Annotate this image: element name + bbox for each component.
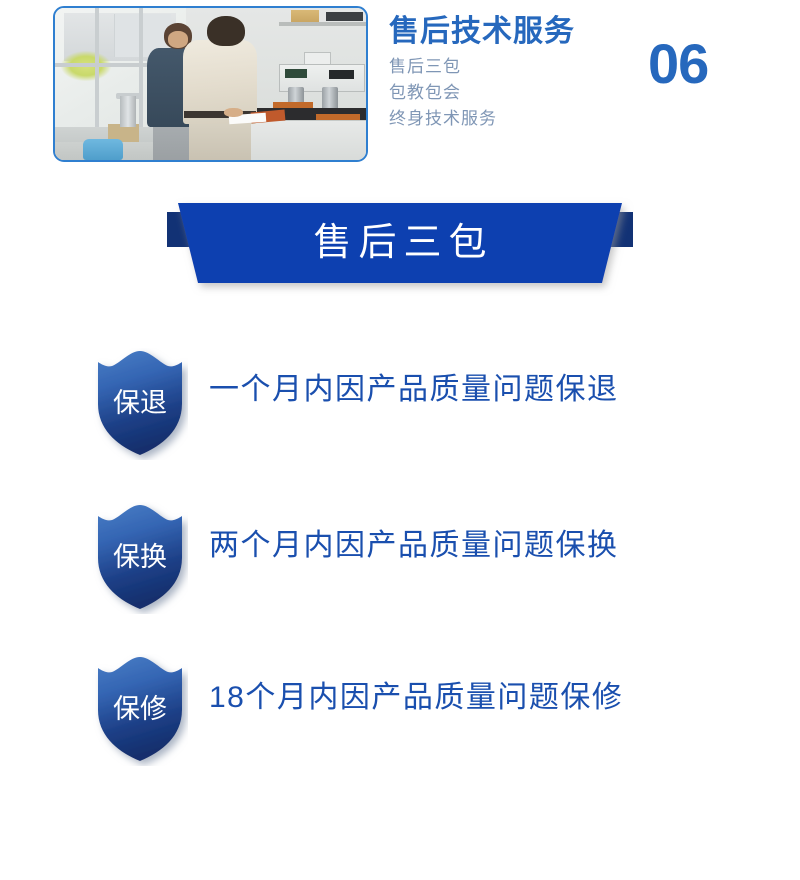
guarantee-row: 保修 18个月内因产品质量问题保修 <box>0 640 800 790</box>
guarantee-list: 保退 一个月内因产品质量问题保退 保换 <box>0 340 800 790</box>
banner-ribbon-shape <box>0 196 800 296</box>
photo-shelf <box>279 22 366 27</box>
guarantee-text: 一个月内因产品质量问题保退 <box>209 364 619 408</box>
header-text-block: 售后技术服务 售后三包 包教包会 终身技术服务 <box>389 16 649 133</box>
photo-stand <box>120 96 136 126</box>
photo-window-mullion <box>95 8 99 133</box>
guarantee-text: 18个月内因产品质量问题保修 <box>209 672 623 716</box>
section-number: 06 <box>648 36 708 92</box>
photo-bench-pad <box>273 102 313 108</box>
section-banner <box>0 196 800 296</box>
page-title: 售后技术服务 <box>389 16 649 48</box>
header-section: 售后技术服务 售后三包 包教包会 终身技术服务 06 <box>0 0 800 175</box>
service-photo <box>55 8 366 160</box>
photo-instrument-screen <box>285 69 307 78</box>
shield-icon: 保换 <box>92 502 188 614</box>
photo-bucket <box>83 139 123 160</box>
shield-icon: 保退 <box>92 348 188 460</box>
service-photo-frame <box>53 6 368 162</box>
guarantee-text: 两个月内因产品质量问题保换 <box>209 520 619 564</box>
header-subtitle-list: 售后三包 包教包会 终身技术服务 <box>389 54 649 133</box>
photo-shelf-box <box>291 10 319 22</box>
guarantee-row: 保退 一个月内因产品质量问题保退 <box>0 340 800 490</box>
guarantee-row: 保换 两个月内因产品质量问题保换 <box>0 490 800 640</box>
photo-instrument-screen-2 <box>329 70 354 79</box>
header-subtitle-line-3: 终身技术服务 <box>389 106 649 132</box>
photo-bench-cabinet <box>235 120 366 160</box>
header-subtitle-line-1: 售后三包 <box>389 54 649 80</box>
photo-window-mullion <box>139 8 143 133</box>
banner-body <box>178 203 622 283</box>
header-subtitle-line-2: 包教包会 <box>389 80 649 106</box>
photo-person-b-legs <box>189 117 251 160</box>
photo-person-a-face <box>168 31 188 48</box>
photo-person-b-head <box>207 16 244 46</box>
photo-hood <box>326 12 363 21</box>
shield-icon: 保修 <box>92 654 188 766</box>
